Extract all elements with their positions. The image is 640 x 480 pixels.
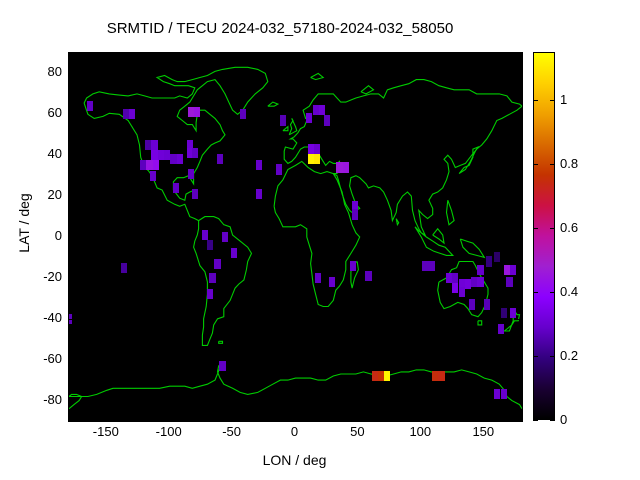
colorbar-tick-label: 0.6 [560,220,610,235]
data-cell [231,248,237,258]
data-cell [173,183,179,193]
data-cell [222,232,228,242]
data-cell [459,287,465,297]
data-cell [87,101,93,111]
y-axis-tick [517,360,522,361]
y-tick-label: -40 [18,310,62,325]
y-axis-tick [517,278,522,279]
colorbar-tick [533,228,538,229]
x-axis-tick [107,416,108,421]
x-axis-tick [170,53,171,58]
data-cell [177,154,183,164]
x-tick-label: 50 [327,424,387,439]
x-tick-label: 150 [453,424,513,439]
data-cell [194,107,200,117]
data-cell [350,261,356,271]
data-cell [219,361,225,371]
colorbar-tick [550,228,555,229]
x-axis-tick [358,416,359,421]
x-tick-label: -150 [76,424,136,439]
data-cell [329,277,335,287]
y-axis-tick [69,278,74,279]
y-axis-tick [517,237,522,238]
colorbar-tick-label: 0 [560,412,610,427]
data-cell [202,230,208,240]
colorbar-tick [550,100,555,101]
x-tick-label: 100 [390,424,450,439]
data-cell [207,240,213,250]
data-cell [469,299,475,309]
data-cell [438,371,444,381]
chart-title: SRMTID / TECU 2024-032_57180-2024-032_58… [0,20,560,37]
colorbar-gradient [533,52,555,420]
data-cell [501,389,507,399]
y-axis-tick [517,155,522,156]
data-cell [314,154,320,164]
data-cell [129,109,135,119]
data-cell [217,154,223,164]
data-cell [192,148,198,158]
x-axis-tick [296,53,297,58]
data-cell [352,209,358,219]
colorbar-tick [550,356,555,357]
x-axis-tick [484,53,485,58]
x-axis-tick [233,416,234,421]
x-axis-tick [233,53,234,58]
data-cell [498,324,504,334]
colorbar [533,52,555,420]
data-cell [384,371,390,381]
colorbar-tick [533,292,538,293]
y-tick-label: -60 [18,351,62,366]
y-tick-label: 60 [18,105,62,120]
x-axis-tick [296,416,297,421]
colorbar-tick-label: 0.8 [560,156,610,171]
data-cell [484,299,490,309]
data-cell-layer [69,53,522,421]
colorbar-tick-label: 0.4 [560,284,610,299]
data-cell [319,105,325,115]
data-cell [256,160,262,170]
data-cell [256,189,262,199]
data-cell [510,308,516,318]
data-cell [240,109,246,119]
data-cell [207,289,213,299]
data-cell [365,271,371,281]
data-cell [477,277,483,287]
data-cell [314,144,320,154]
data-cell [209,273,215,283]
data-cell [192,189,198,199]
y-axis-tick [517,319,522,320]
y-axis-tick [517,114,522,115]
x-axis-tick [358,53,359,58]
y-axis-tick [69,360,74,361]
colorbar-tick [533,100,538,101]
x-axis-tick [421,53,422,58]
data-cell [188,169,194,179]
data-cell [324,115,330,125]
data-cell [153,160,159,170]
data-cell [150,171,156,181]
x-axis-tick [170,416,171,421]
x-tick-label: -100 [139,424,199,439]
colorbar-tick [533,356,538,357]
colorbar-tick [533,164,538,165]
data-cell [494,389,500,399]
data-cell [121,263,127,273]
y-axis-tick [517,401,522,402]
y-axis-tick [517,73,522,74]
data-cell [214,259,220,269]
colorbar-tick [550,164,555,165]
data-cell [151,140,157,150]
y-axis-label: LAT / deg [16,153,32,293]
colorbar-tick [550,292,555,293]
data-cell [506,277,512,287]
x-axis-label: LON / deg [68,452,521,468]
y-axis-tick [69,114,74,115]
x-tick-label: -50 [202,424,262,439]
y-axis-tick [69,196,74,197]
data-cell [280,115,286,125]
y-axis-tick [69,401,74,402]
y-axis-tick [69,319,74,320]
x-axis-tick [421,416,422,421]
data-cell [276,164,282,174]
data-cell [306,113,312,123]
data-cell [428,261,434,271]
data-cell [494,252,500,262]
data-cell [477,265,483,275]
y-tick-label: -80 [18,392,62,407]
y-axis-tick [69,155,74,156]
colorbar-tick-label: 1 [560,92,610,107]
data-cell [343,162,349,172]
data-cell [486,256,492,266]
x-tick-label: 0 [265,424,325,439]
data-cell [501,308,507,318]
y-axis-tick [69,237,74,238]
data-cell [510,265,516,275]
x-axis-tick [484,416,485,421]
y-axis-tick [517,196,522,197]
colorbar-tick-label: 0.2 [560,348,610,363]
data-cell [315,273,321,283]
y-tick-label: 80 [18,64,62,79]
colorbar-tick [550,420,555,421]
y-axis-tick [69,73,74,74]
x-axis-tick [107,53,108,58]
colorbar-tick [533,420,538,421]
map-plot-area [68,52,523,422]
